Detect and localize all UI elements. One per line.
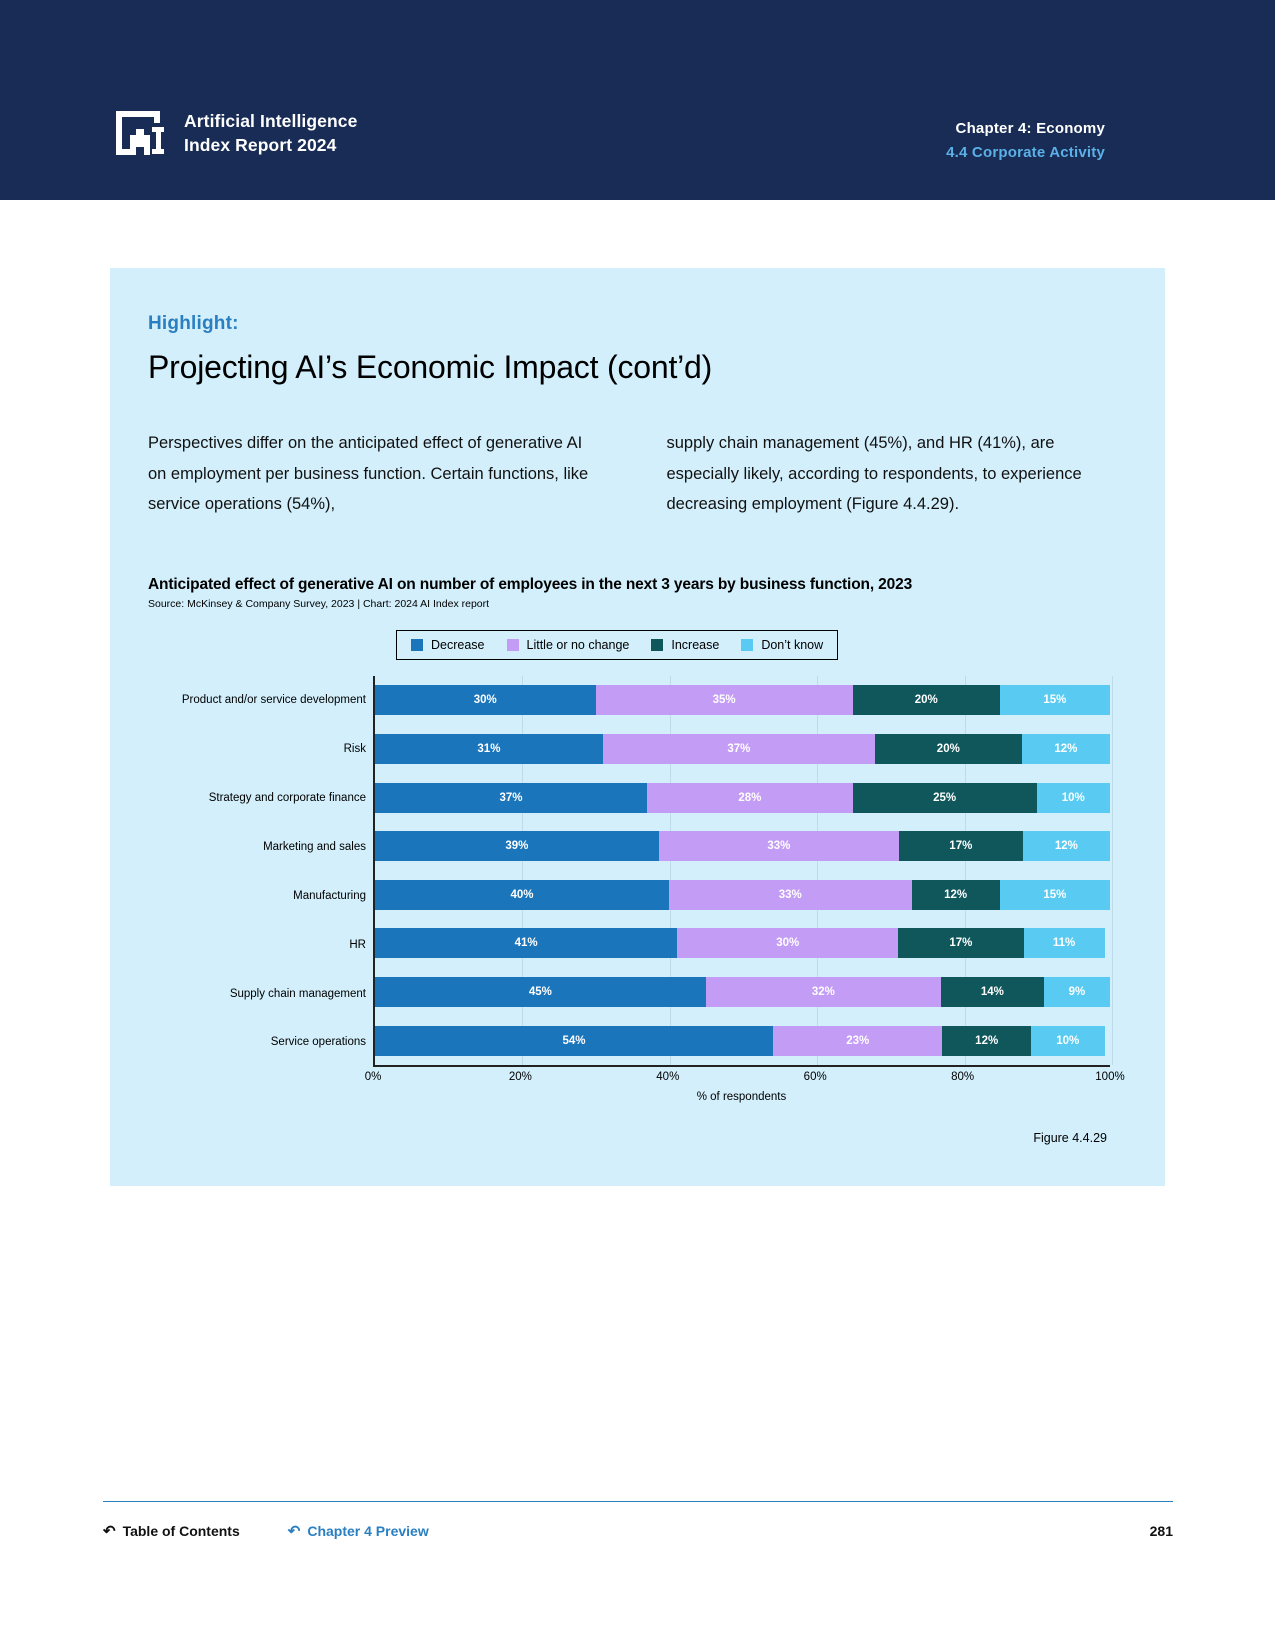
bar-segment[interactable]: 14% — [941, 977, 1044, 1007]
footer-divider — [103, 1501, 1173, 1502]
bar-segment[interactable]: 20% — [875, 734, 1022, 764]
x-tick-label: 60% — [804, 1071, 827, 1083]
bar-segment[interactable]: 10% — [1037, 783, 1110, 813]
bar-row: 54%23%12%10% — [375, 1016, 1110, 1065]
legend-label: Decrease — [431, 638, 485, 652]
logo-title-line1: Artificial Intelligence — [184, 109, 357, 133]
page-number: 281 — [1150, 1523, 1173, 1539]
bar-row: 37%28%25%10% — [375, 773, 1110, 822]
bar-segment[interactable]: 12% — [942, 1026, 1030, 1056]
bar-segment[interactable]: 17% — [898, 928, 1023, 958]
report-logo: Artificial Intelligence Index Report 202… — [110, 105, 357, 161]
bar-segment[interactable]: 28% — [647, 783, 853, 813]
bar-segment[interactable]: 54% — [375, 1026, 773, 1056]
bar-segment[interactable]: 11% — [1024, 928, 1105, 958]
page-header: Artificial Intelligence Index Report 202… — [0, 0, 1275, 200]
category-label: Service operations — [148, 1018, 373, 1067]
figure-number: Figure 4.4.29 — [148, 1131, 1117, 1145]
legend-label: Don’t know — [761, 638, 823, 652]
legend-item-2[interactable]: Increase — [651, 638, 719, 652]
bar-row: 30%35%20%15% — [375, 676, 1110, 725]
bar-row: 31%37%20%12% — [375, 725, 1110, 774]
x-axis-ticks: 0%20%40%60%80%100% — [373, 1067, 1110, 1089]
bar-segment[interactable]: 35% — [596, 685, 853, 715]
legend-item-3[interactable]: Don’t know — [741, 638, 823, 652]
legend-swatch-icon — [741, 639, 753, 651]
category-label: HR — [148, 920, 373, 969]
category-label: Marketing and sales — [148, 823, 373, 872]
category-axis: Product and/or service developmentRiskSt… — [148, 676, 373, 1067]
chart-title: Anticipated effect of generative AI on n… — [148, 576, 1117, 594]
legend-item-1[interactable]: Little or no change — [507, 638, 630, 652]
header-breadcrumb: Chapter 4: Economy 4.4 Corporate Activit… — [946, 120, 1105, 161]
bar-segment[interactable]: 33% — [659, 831, 899, 861]
bar-segment[interactable]: 33% — [669, 880, 912, 910]
bar-segment[interactable]: 20% — [853, 685, 1000, 715]
gridline — [1112, 676, 1113, 1065]
bar-segment[interactable]: 37% — [375, 783, 647, 813]
bar-segment[interactable]: 12% — [1023, 831, 1110, 861]
bar-segment[interactable]: 23% — [773, 1026, 943, 1056]
section-label[interactable]: 4.4 Corporate Activity — [946, 144, 1105, 161]
chapter-preview-label: Chapter 4 Preview — [307, 1523, 428, 1539]
ai-index-logo-icon — [110, 105, 166, 161]
bar-segment[interactable]: 9% — [1044, 977, 1110, 1007]
legend-label: Increase — [671, 638, 719, 652]
legend-swatch-icon — [411, 639, 423, 651]
table-of-contents-link[interactable]: ↶ Table of Contents — [103, 1522, 240, 1540]
bar-segment[interactable]: 37% — [603, 734, 875, 764]
legend-swatch-icon — [651, 639, 663, 651]
chapter-label: Chapter 4: Economy — [946, 120, 1105, 137]
logo-title-line2: Index Report 2024 — [184, 133, 357, 157]
legend-label: Little or no change — [527, 638, 630, 652]
chart-plot-area: Product and/or service developmentRiskSt… — [148, 676, 1117, 1067]
highlight-panel: Highlight: Projecting AI’s Economic Impa… — [110, 268, 1165, 1186]
bar-segment[interactable]: 15% — [1000, 880, 1110, 910]
category-label: Supply chain management — [148, 969, 373, 1018]
return-arrow-icon: ↶ — [103, 1522, 116, 1540]
body-text: Perspectives differ on the anticipated e… — [148, 428, 1117, 520]
legend-swatch-icon — [507, 639, 519, 651]
bar-row: 40%33%12%15% — [375, 870, 1110, 919]
body-paragraph-left: Perspectives differ on the anticipated e… — [148, 428, 599, 520]
bar-segment[interactable]: 45% — [375, 977, 706, 1007]
category-label: Product and/or service development — [148, 676, 373, 725]
x-tick-label: 20% — [509, 1071, 532, 1083]
bar-row: 39%33%17%12% — [375, 822, 1110, 871]
bars-area: 30%35%20%15%31%37%20%12%37%28%25%10%39%3… — [373, 676, 1110, 1067]
x-tick-label: 100% — [1095, 1071, 1124, 1083]
bar-segment[interactable]: 31% — [375, 734, 603, 764]
category-label: Risk — [148, 725, 373, 774]
x-tick-label: 40% — [656, 1071, 679, 1083]
bar-segment[interactable]: 12% — [912, 880, 1000, 910]
chart-source: Source: McKinsey & Company Survey, 2023 … — [148, 598, 1117, 610]
x-axis-label: % of respondents — [373, 1091, 1110, 1103]
bar-segment[interactable]: 10% — [1031, 1026, 1105, 1056]
bar-segment[interactable]: 32% — [706, 977, 941, 1007]
category-label: Strategy and corporate finance — [148, 774, 373, 823]
page-title: Projecting AI’s Economic Impact (cont’d) — [148, 349, 1117, 386]
return-arrow-icon: ↶ — [288, 1522, 301, 1540]
chapter-preview-link[interactable]: ↶ Chapter 4 Preview — [288, 1522, 429, 1540]
x-tick-label: 80% — [951, 1071, 974, 1083]
bar-row: 41%30%17%11% — [375, 919, 1110, 968]
bar-segment[interactable]: 40% — [375, 880, 669, 910]
bar-segment[interactable]: 25% — [853, 783, 1037, 813]
bar-segment[interactable]: 30% — [677, 928, 898, 958]
body-paragraph-right: supply chain management (45%), and HR (4… — [667, 428, 1118, 520]
bar-segment[interactable]: 12% — [1022, 734, 1110, 764]
page-footer: ↶ Table of Contents ↶ Chapter 4 Preview … — [103, 1501, 1173, 1540]
highlight-kicker: Highlight: — [148, 313, 1117, 335]
bar-segment[interactable]: 30% — [375, 685, 596, 715]
bar-segment[interactable]: 17% — [899, 831, 1023, 861]
bar-row: 45%32%14%9% — [375, 968, 1110, 1017]
x-tick-label: 0% — [365, 1071, 382, 1083]
table-of-contents-label: Table of Contents — [123, 1523, 240, 1539]
bar-segment[interactable]: 15% — [1000, 685, 1110, 715]
bar-segment[interactable]: 41% — [375, 928, 677, 958]
legend-item-0[interactable]: Decrease — [411, 638, 485, 652]
bar-segment[interactable]: 39% — [375, 831, 659, 861]
chart-legend: DecreaseLittle or no changeIncreaseDon’t… — [396, 630, 838, 660]
category-label: Manufacturing — [148, 872, 373, 921]
